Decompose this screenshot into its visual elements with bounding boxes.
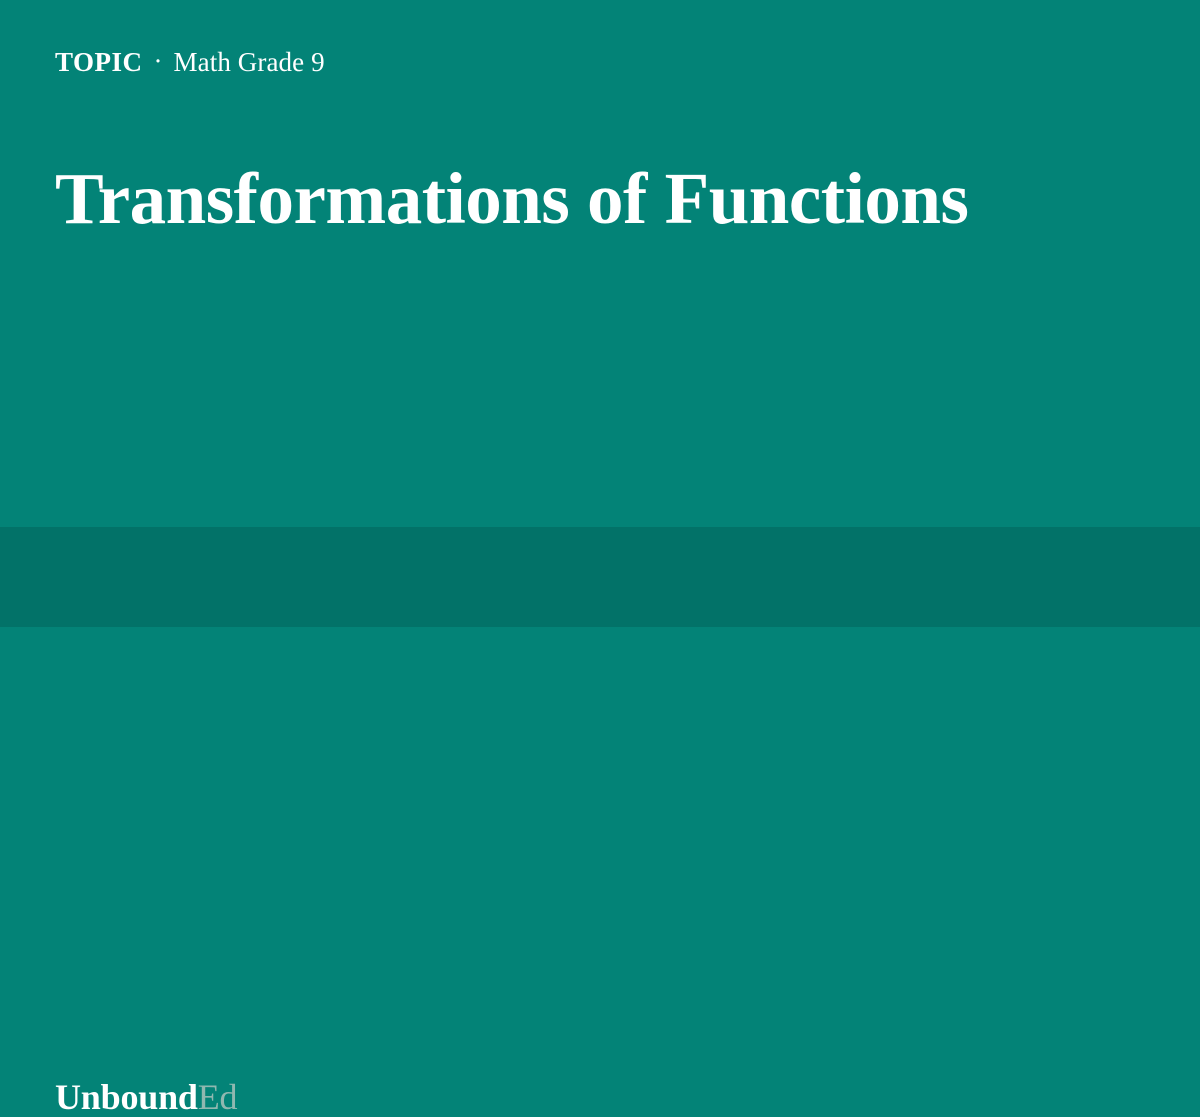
subject-grade-label: Math Grade 9: [174, 49, 325, 76]
separator-dot-icon: ·: [143, 48, 174, 75]
logo-text-primary: Unbound: [55, 1079, 198, 1115]
footer-band: Unbound Ed: [0, 527, 1200, 627]
page-title: Transformations of Functions: [55, 161, 1135, 238]
topic-label: TOPIC: [55, 49, 143, 76]
title-slide: TOPIC · Math Grade 9 Transformations of …: [0, 0, 1200, 627]
breadcrumb: TOPIC · Math Grade 9: [55, 49, 325, 76]
logo-text-secondary: Ed: [198, 1079, 238, 1115]
unbounded-logo: Unbound Ed: [55, 1079, 237, 1115]
slide-body: TOPIC · Math Grade 9 Transformations of …: [0, 0, 1200, 527]
